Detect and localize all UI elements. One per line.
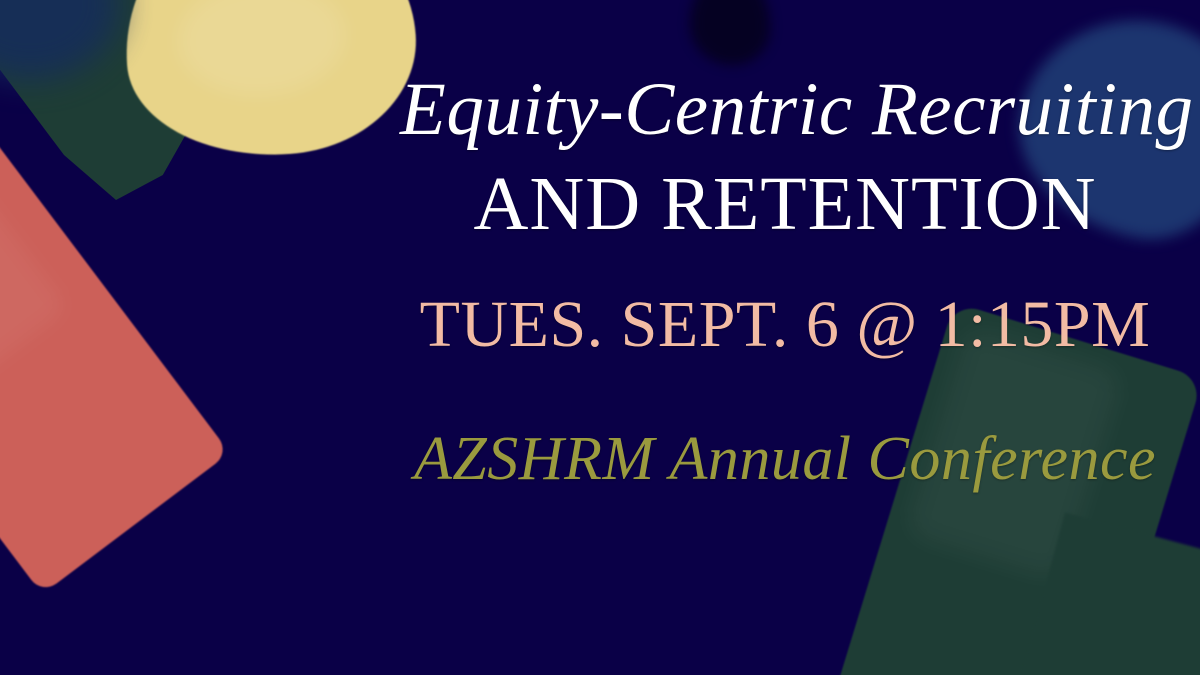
poster-title-line-2: AND RETENTION [400,166,1170,242]
poster-date-time: TUES. SEPT. 6 @ 1:15PM [400,292,1170,358]
poster-title-line-1: Equity-Centric Recruiting [400,72,1170,147]
poster-text-block: Equity-Centric Recruiting AND RETENTION … [400,0,1170,675]
poster-event-name: AZSHRM Annual Conference [400,428,1170,490]
event-poster: Equity-Centric Recruiting AND RETENTION … [0,0,1200,675]
